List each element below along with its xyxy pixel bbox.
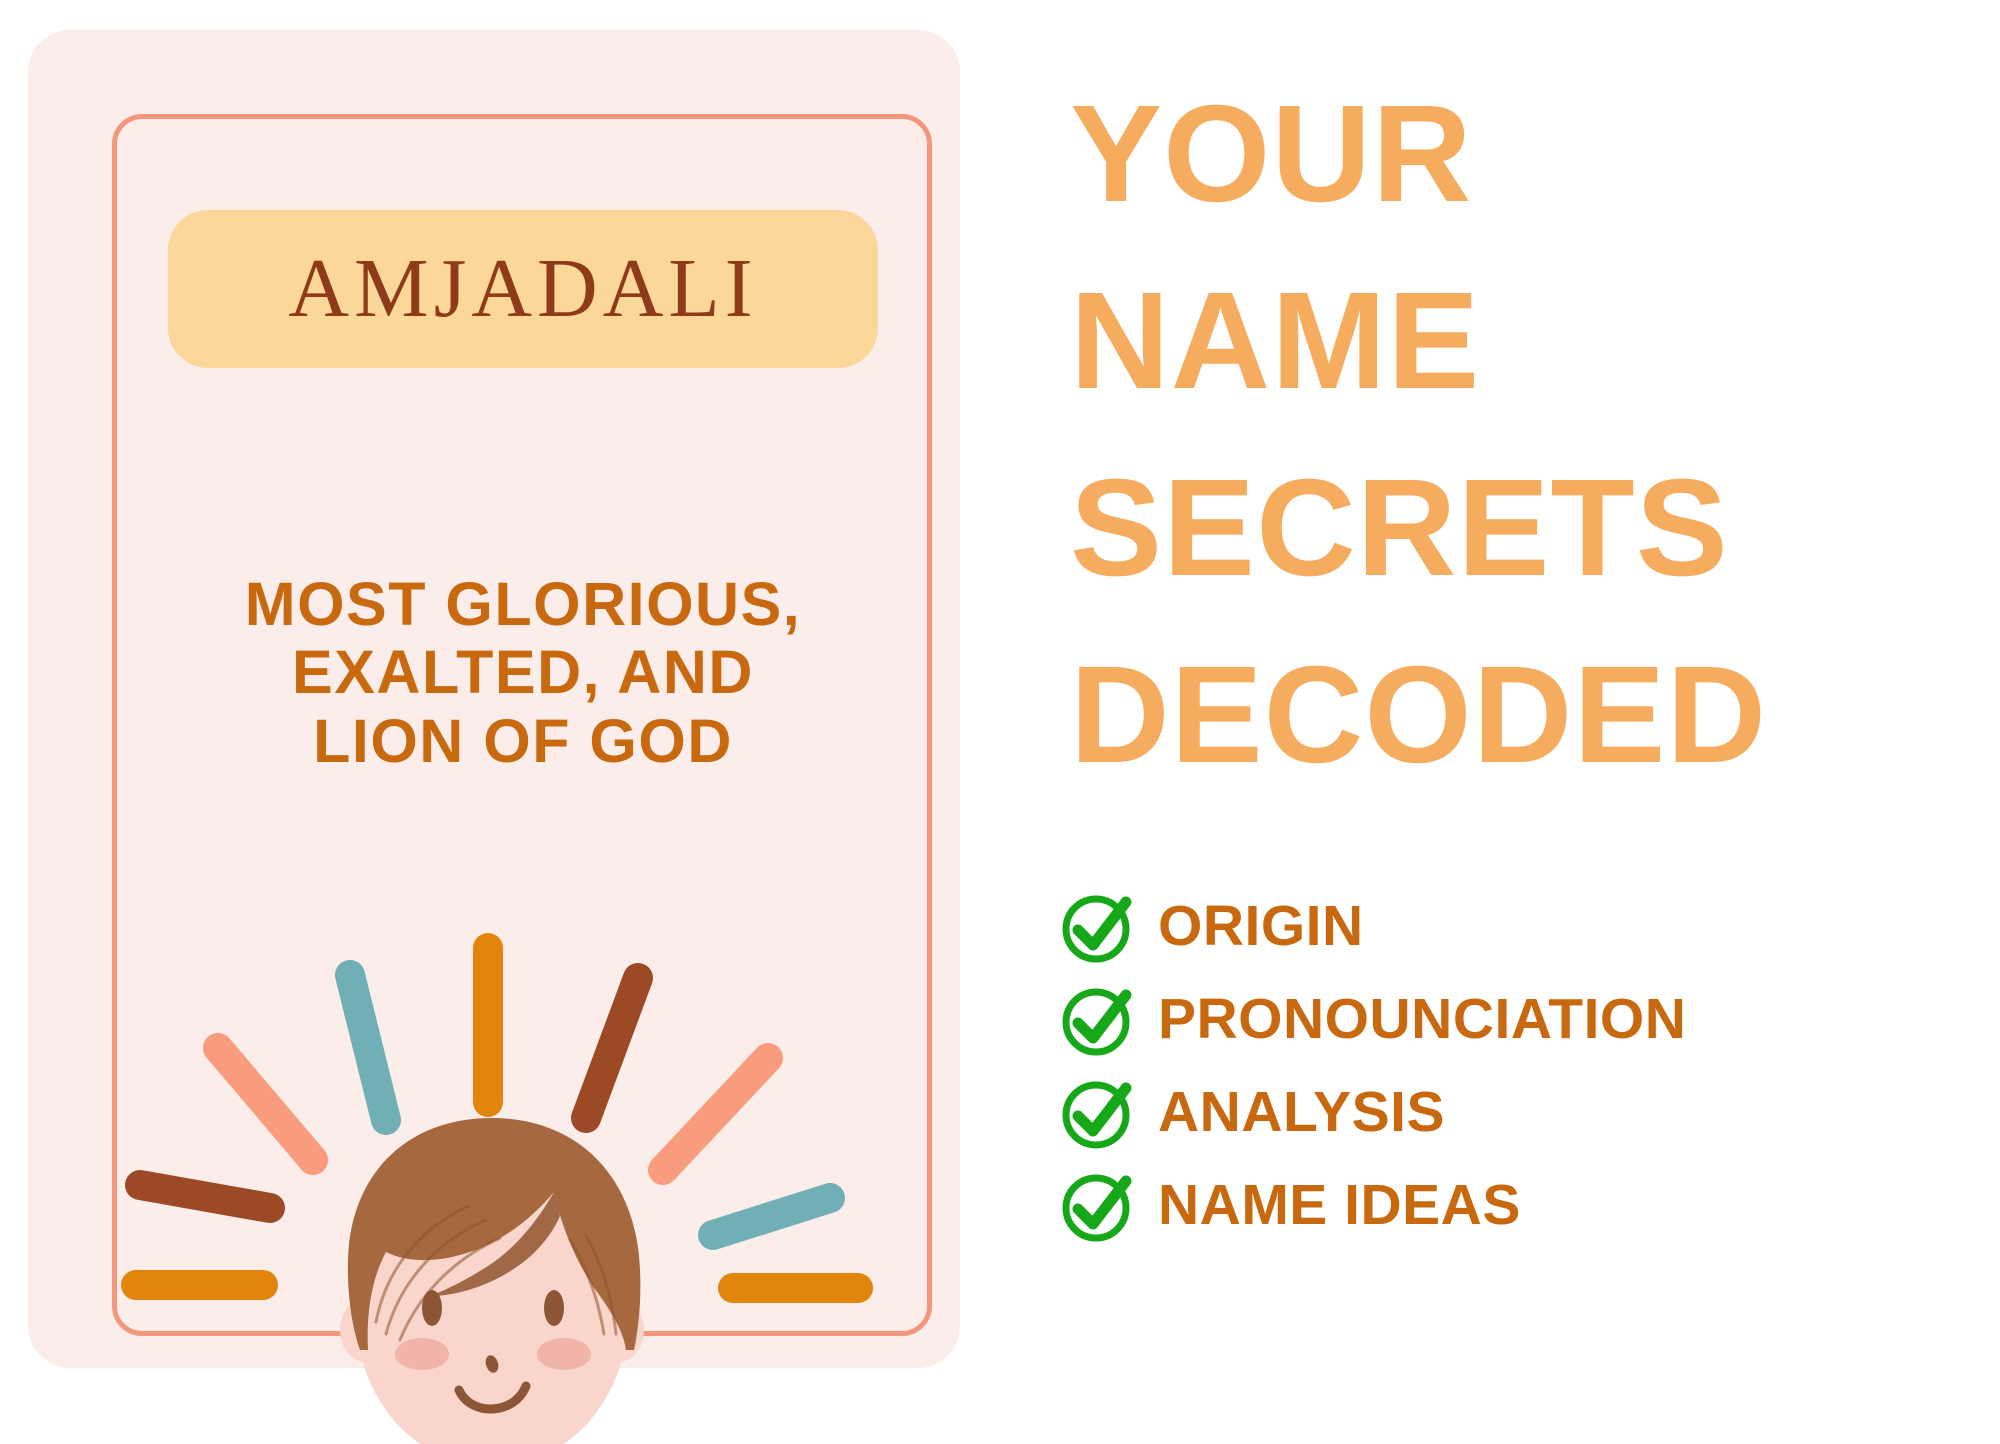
checklist-item-analysis: ANALYSIS: [1060, 1066, 2000, 1159]
check-circle-icon: [1060, 889, 1136, 965]
ray-salmon-left: [218, 1048, 313, 1160]
headline-line-3: SECRETS: [1070, 459, 1729, 597]
headline-line-2: NAME: [1070, 272, 1480, 410]
cheek-left: [395, 1338, 449, 1370]
cheek-right: [537, 1338, 591, 1370]
headline-line-1: YOUR: [1070, 85, 1473, 223]
check-circle-icon: [1060, 982, 1136, 1058]
ray-dark-brown-left: [140, 1185, 270, 1208]
ray-teal-left: [350, 975, 386, 1120]
name-card: AMJADALI MOST GLORIOUS, EXALTED, AND LIO…: [28, 30, 960, 1368]
name-banner: AMJADALI: [168, 210, 878, 368]
eye-right: [544, 1290, 564, 1326]
checklist-item-name-ideas: NAME IDEAS: [1060, 1159, 2000, 1252]
ray-salmon-right: [663, 1058, 768, 1170]
check-circle-icon: [1060, 1075, 1136, 1151]
feature-checklist: ORIGIN PRONOUNCIATION ANALYSIS: [1060, 880, 2000, 1252]
checklist-item-origin: ORIGIN: [1060, 880, 2000, 973]
checklist-label: ANALYSIS: [1158, 1084, 1445, 1141]
checklist-label: NAME IDEAS: [1158, 1177, 1521, 1234]
name-title: AMJADALI: [288, 247, 757, 331]
meaning-line-2: EXALTED, AND: [138, 638, 908, 706]
checklist-label: PRONOUNCIATION: [1158, 991, 1686, 1048]
eye-left: [422, 1290, 442, 1326]
ray-teal-right: [713, 1198, 830, 1235]
headline-line-4: DECODED: [1070, 646, 1767, 784]
meaning-line-3: LION OF GOD: [138, 707, 908, 775]
name-meaning: MOST GLORIOUS, EXALTED, AND LION OF GOD: [138, 570, 908, 775]
meaning-line-1: MOST GLORIOUS,: [138, 570, 908, 638]
ray-dark-brown-right: [586, 978, 638, 1118]
checklist-label: ORIGIN: [1158, 898, 1364, 955]
check-circle-icon: [1060, 1168, 1136, 1244]
right-panel: YOUR NAME SECRETS DECODED ORIGIN PRONOUN…: [1060, 0, 2000, 1414]
checklist-item-pronounciation: PRONOUNCIATION: [1060, 973, 2000, 1066]
boy-face-with-rays-illustration: [118, 930, 918, 1444]
